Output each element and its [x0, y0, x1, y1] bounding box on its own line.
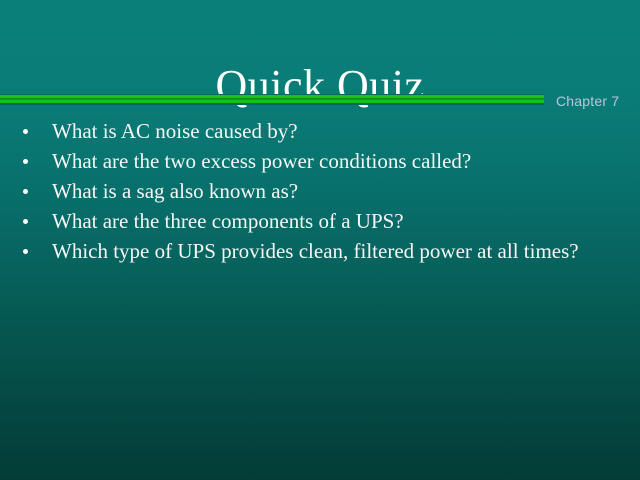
list-item-label: What are the three components of a UPS?	[52, 206, 404, 236]
list-item-label: What are the two excess power conditions…	[52, 146, 471, 176]
list-item-label: What is AC noise caused by?	[52, 116, 298, 146]
list-item-label: Which type of UPS provides clean, filter…	[52, 236, 579, 266]
title-divider-rule	[0, 94, 544, 105]
chapter-label: Chapter 7	[556, 93, 619, 109]
bullet-dot-icon	[23, 159, 28, 164]
list-item: What are the three components of a UPS?	[0, 206, 640, 236]
list-item: What is a sag also known as?	[0, 176, 640, 206]
divider-stripe-6	[0, 103, 544, 105]
bullet-dot-icon	[23, 219, 28, 224]
list-item: Which type of UPS provides clean, filter…	[0, 236, 640, 266]
bullet-dot-icon	[23, 129, 28, 134]
slide-canvas: Quick Quiz Chapter 7 What is AC noise ca…	[0, 0, 640, 480]
list-item: What is AC noise caused by?	[0, 116, 640, 146]
quiz-question-list: What is AC noise caused by? What are the…	[0, 116, 640, 266]
bullet-dot-icon	[23, 249, 28, 254]
list-item: What are the two excess power conditions…	[0, 146, 640, 176]
list-item-label: What is a sag also known as?	[52, 176, 298, 206]
bullet-dot-icon	[23, 189, 28, 194]
